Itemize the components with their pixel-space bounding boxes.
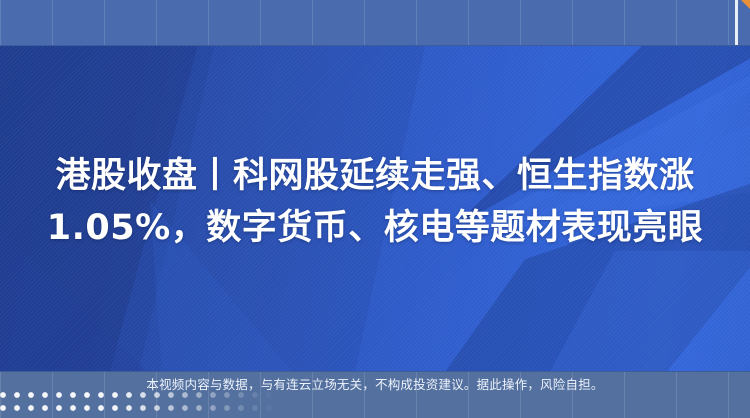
video-thumbnail-banner: 港股收盘丨科网股延续走强、恒生指数涨1.05%，数字货币、核电等题材表现亮眼 本…	[0, 0, 750, 418]
disclaimer-text: 本视频内容与数据，与有连云立场无关，不构成投资建议。据此操作，风险自担。	[0, 376, 750, 393]
top-right-vertical-rule	[735, 0, 738, 45]
headline-container: 港股收盘丨科网股延续走强、恒生指数涨1.05%，数字货币、核电等题材表现亮眼	[0, 45, 750, 372]
dot-grid-decoration	[0, 392, 300, 418]
bottom-band: 本视频内容与数据，与有连云立场无关，不构成投资建议。据此操作，风险自担。	[0, 371, 750, 418]
top-band-column-rules	[0, 0, 750, 45]
top-band	[0, 0, 750, 46]
page-title: 港股收盘丨科网股延续走强、恒生指数涨1.05%，数字货币、核电等题材表现亮眼	[39, 150, 711, 254]
